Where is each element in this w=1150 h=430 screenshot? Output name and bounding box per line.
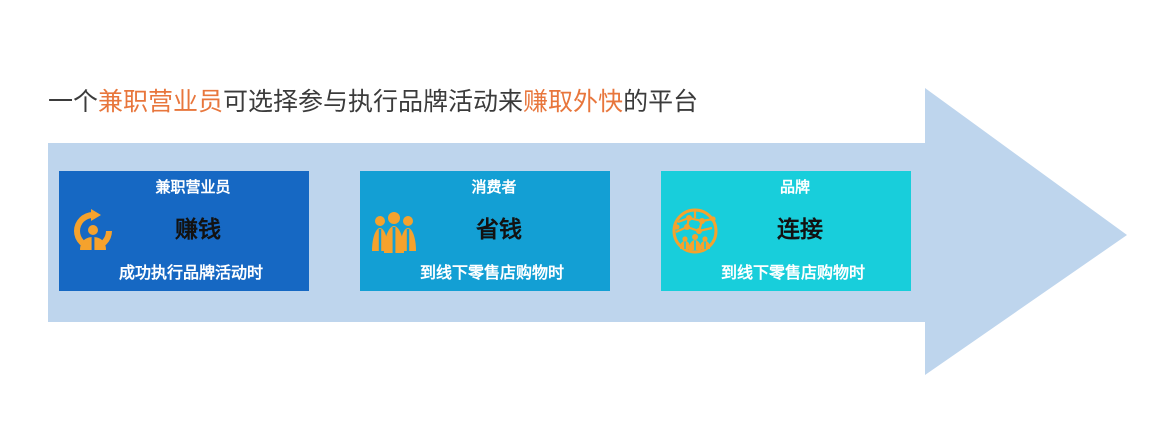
card-row: 兼职营业员 赚钱 成功执行品牌活动时 消费者 <box>59 171 1059 291</box>
page-title: 一个兼职营业员可选择参与执行品牌活动来赚取外快的平台 <box>48 86 698 120</box>
card-main-label: 省钱 <box>360 215 610 245</box>
title-segment-2: 可选择参与执行品牌活动来 <box>223 89 523 116</box>
card-header-label: 兼职营业员 <box>59 178 309 198</box>
card-brand[interactable]: 品牌 <box>661 171 911 291</box>
card-footer-label: 到线下零售店购物时 <box>661 263 911 285</box>
card-consumer[interactable]: 消费者 省钱 到线下零售店购物时 <box>360 171 610 291</box>
card-header-label: 消费者 <box>360 178 610 198</box>
card-footer-label: 到线下零售店购物时 <box>360 263 610 285</box>
card-header-label: 品牌 <box>661 178 911 198</box>
card-footer-label: 成功执行品牌活动时 <box>59 263 309 285</box>
card-part-time-salesperson[interactable]: 兼职营业员 赚钱 成功执行品牌活动时 <box>59 171 309 291</box>
title-highlight-2: 赚取外快 <box>523 89 623 116</box>
card-main-label: 连接 <box>661 215 911 245</box>
title-segment-3: 的平台 <box>623 89 698 116</box>
title-highlight-1: 兼职营业员 <box>98 89 223 116</box>
card-main-label: 赚钱 <box>59 215 309 245</box>
title-segment-1: 一个 <box>48 89 98 116</box>
